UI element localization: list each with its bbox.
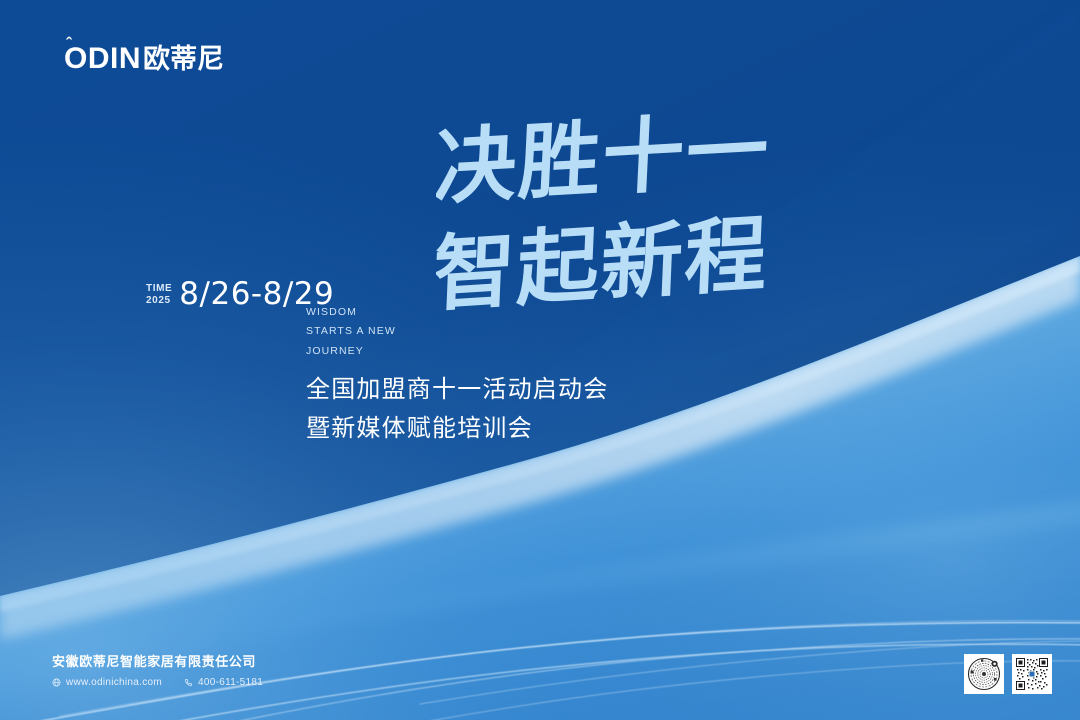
qr-code-group	[964, 654, 1052, 694]
qr-code-circular[interactable]	[964, 654, 1004, 694]
logo-latin-wordmark: ˆODIN	[64, 44, 141, 74]
globe-icon	[52, 678, 61, 687]
time-label: TIME	[146, 283, 172, 294]
logo-chinese-wordmark: 欧蒂尼	[143, 46, 224, 73]
website-text: www.odinichina.com	[66, 677, 162, 688]
brand-logo[interactable]: ˆODIN 欧蒂尼	[64, 44, 224, 74]
time-label-stack: TIME 2025	[146, 283, 172, 305]
tagline-line-2: STARTS A NEW	[306, 322, 396, 341]
phone-icon	[184, 678, 193, 687]
event-poster: ˆODIN 欧蒂尼 决胜十一 智起新程 TIME 2025 8/26-8/29 …	[0, 0, 1080, 720]
contact-row: www.odinichina.com 400-611-5181	[52, 677, 285, 688]
logo-macron-accent: ˆ	[66, 35, 72, 52]
subtitle-line-2: 暨新媒体赋能培训会	[306, 409, 608, 448]
footer-info: 安徽欧蒂尼智能家居有限责任公司 www.odinichina.com	[52, 651, 285, 688]
qr-code-square[interactable]	[1012, 654, 1052, 694]
website-item[interactable]: www.odinichina.com	[52, 677, 162, 688]
year-label: 2025	[146, 295, 172, 306]
tagline-line-1: WISDOM	[306, 303, 396, 322]
phone-text: 400-611-5181	[198, 677, 263, 688]
phone-item[interactable]: 400-611-5181	[184, 677, 263, 688]
event-subtitle: 全国加盟商十一活动启动会 暨新媒体赋能培训会	[306, 370, 608, 448]
logo-latin-rest: DIN	[88, 42, 141, 75]
english-tagline: WISDOM STARTS A NEW JOURNEY	[306, 303, 396, 361]
background-artwork	[0, 0, 1080, 720]
tagline-line-3: JOURNEY	[306, 342, 396, 361]
company-name: 安徽欧蒂尼智能家居有限责任公司	[52, 651, 285, 670]
subtitle-line-1: 全国加盟商十一活动启动会	[306, 370, 608, 409]
